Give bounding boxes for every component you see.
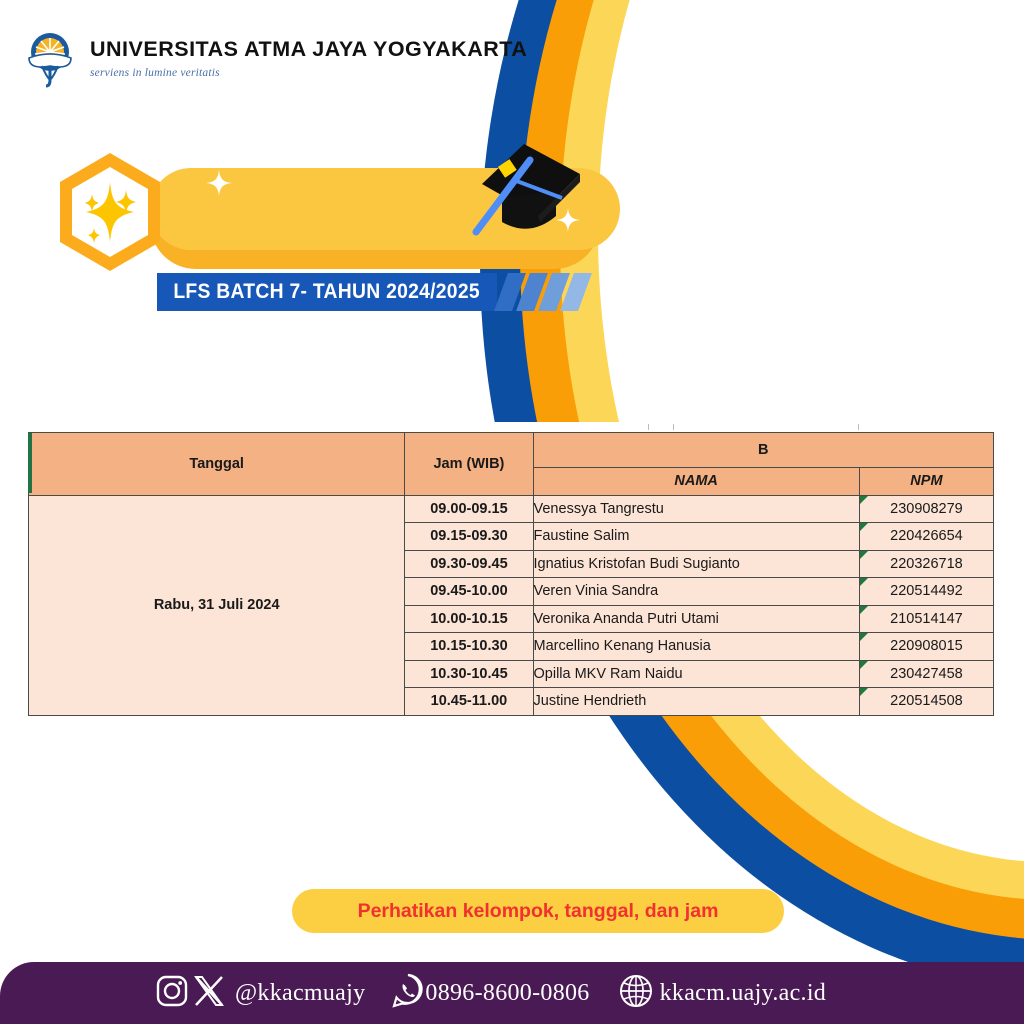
table-row: Rabu, 31 Juli 2024 09.00-09.15 Venessya … <box>29 495 994 523</box>
note-text: Perhatikan kelompok, tanggal, dan jam <box>358 900 719 923</box>
cell-npm: 220514492 <box>859 578 993 606</box>
website-group: kkacm.uajy.ac.id <box>618 973 827 1014</box>
cell-jam: 09.30-09.45 <box>405 550 533 578</box>
sheet-selection-edge <box>28 433 32 493</box>
header-group: B <box>533 433 994 468</box>
university-motto: serviens in lumine veritatis <box>90 68 527 80</box>
cell-npm-value: 220514508 <box>890 693 963 709</box>
four-point-star-icon <box>206 170 232 202</box>
note-banner: Perhatikan kelompok, tanggal, dan jam <box>292 889 784 933</box>
cell-npm-value: 220514492 <box>890 583 963 599</box>
subtitle-bar-fill: LFS BATCH 7- TAHUN 2024/2025 <box>157 273 497 311</box>
cell-nama: Veren Vinia Sandra <box>533 578 859 606</box>
phone-number: 0896-8600-0806 <box>425 980 589 1007</box>
cell-nama: Faustine Salim <box>533 523 859 551</box>
cell-comment-flag-icon <box>860 578 868 586</box>
cell-jam: 10.45-11.00 <box>405 688 533 716</box>
cell-jam: 09.15-09.30 <box>405 523 533 551</box>
cell-nama: Veronika Ananda Putri Utami <box>533 605 859 633</box>
brand-header: UNIVERSITAS ATMA JAYA YOGYAKARTA servien… <box>22 30 527 88</box>
cell-jam: 09.00-09.15 <box>405 495 533 523</box>
cell-npm: 220514508 <box>859 688 993 716</box>
cell-comment-flag-icon <box>860 661 868 669</box>
subtitle-label: LFS BATCH 7- TAHUN 2024/2025 <box>174 280 481 304</box>
cell-comment-flag-icon <box>860 496 868 504</box>
header-nama: NAMA <box>533 468 859 496</box>
cell-comment-flag-icon <box>860 688 868 696</box>
uajy-logo-icon <box>22 30 78 88</box>
cell-npm-value: 220326718 <box>890 556 963 572</box>
cell-npm: 220426654 <box>859 523 993 551</box>
x-twitter-icon[interactable] <box>193 974 225 1013</box>
cell-npm: 220326718 <box>859 550 993 578</box>
cell-npm: 230908279 <box>859 495 993 523</box>
cell-comment-flag-icon <box>860 523 868 531</box>
cell-npm-value: 230427458 <box>890 666 963 682</box>
cell-jam: 09.45-10.00 <box>405 578 533 606</box>
cell-comment-flag-icon <box>860 606 868 614</box>
header-tanggal: Tanggal <box>29 433 405 496</box>
university-name: UNIVERSITAS ATMA JAYA YOGYAKARTA <box>90 39 527 61</box>
cell-comment-flag-icon <box>860 633 868 641</box>
schedule-table: Tanggal Jam (WIB) B NAMA NPM Rabu, 31 Ju… <box>28 432 994 716</box>
cell-nama: Opilla MKV Ram Naidu <box>533 660 859 688</box>
cell-nama: Marcellino Kenang Hanusia <box>533 633 859 661</box>
cell-npm: 210514147 <box>859 605 993 633</box>
cell-npm-value: 210514147 <box>890 611 963 627</box>
cell-tanggal: Rabu, 31 Juli 2024 <box>29 495 405 715</box>
poster-canvas: UNIVERSITAS ATMA JAYA YOGYAKARTA servien… <box>0 0 1024 1024</box>
phone-group: 0896-8600-0806 <box>391 973 589 1014</box>
cell-nama: Ignatius Kristofan Budi Sugianto <box>533 550 859 578</box>
cell-npm-value: 220908015 <box>890 638 963 654</box>
instagram-icon[interactable] <box>155 974 189 1013</box>
cell-npm: 230427458 <box>859 660 993 688</box>
contact-footer: @kkacmuajy 0896-8600-0806 <box>0 962 1024 1024</box>
cell-jam: 10.00-10.15 <box>405 605 533 633</box>
social-handle: @kkacmuajy <box>235 980 365 1007</box>
cell-npm-value: 220426654 <box>890 528 963 544</box>
cell-jam: 10.30-10.45 <box>405 660 533 688</box>
graduation-cap-icon <box>452 126 592 244</box>
globe-icon[interactable] <box>618 973 654 1014</box>
schedule-grid: Tanggal Jam (WIB) B NAMA NPM Rabu, 31 Ju… <box>28 432 994 716</box>
sheet-ghost-row <box>28 422 994 432</box>
cell-nama: Venessya Tangrestu <box>533 495 859 523</box>
decor-corner-cut <box>964 0 1024 40</box>
cell-npm: 220908015 <box>859 633 993 661</box>
header-npm: NPM <box>859 468 993 496</box>
cell-npm-value: 230908279 <box>890 501 963 517</box>
schedule-grid-body: Tanggal Jam (WIB) B NAMA NPM Rabu, 31 Ju… <box>29 433 994 716</box>
cell-comment-flag-icon <box>860 551 868 559</box>
social-group: @kkacmuajy <box>155 974 365 1013</box>
sparkle-hexagon-icon <box>54 150 166 274</box>
website-url: kkacm.uajy.ac.id <box>660 980 827 1007</box>
cell-nama: Justine Hendrieth <box>533 688 859 716</box>
table-header-row-1: Tanggal Jam (WIB) B <box>29 433 994 468</box>
whatsapp-icon[interactable] <box>391 973 425 1014</box>
cell-jam: 10.15-10.30 <box>405 633 533 661</box>
header-jam: Jam (WIB) <box>405 433 533 496</box>
